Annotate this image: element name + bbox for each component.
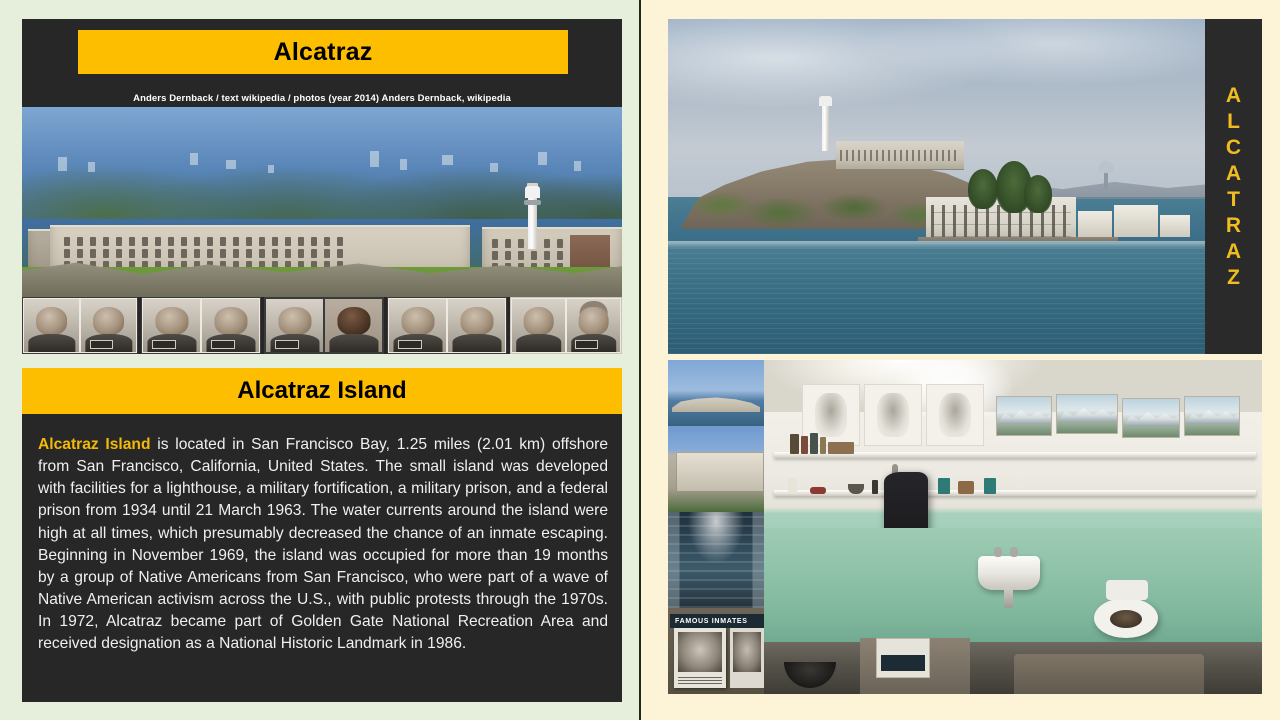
pencil-drawing — [926, 384, 984, 446]
vertical-letter: L — [1227, 111, 1240, 132]
thumbnail-sidebar: FAMOUS INMATES — [668, 360, 764, 694]
landscape-painting — [1184, 396, 1240, 436]
cell-sink — [978, 556, 1040, 590]
mugshot-strip — [22, 297, 622, 354]
landscape-painting — [1056, 394, 1118, 434]
vertical-letter: R — [1226, 215, 1241, 236]
title-card: Alcatraz Anders Dernback / text wikipedi… — [22, 19, 622, 354]
page-title: Alcatraz — [274, 38, 373, 67]
vertical-letter: Z — [1227, 267, 1240, 288]
landscape-painting — [1122, 398, 1180, 438]
mugshot-pair — [22, 297, 138, 354]
vertical-letter: A — [1226, 85, 1241, 106]
island-photo-block: A L C A T R A Z — [668, 19, 1262, 354]
mugshot-portrait — [448, 299, 505, 352]
cellhouse-building — [836, 141, 964, 169]
books-and-objects — [790, 432, 910, 454]
cell-bunk — [1014, 654, 1204, 694]
mugshot-portrait — [266, 299, 323, 352]
mugshot-pair — [510, 297, 622, 354]
cell-toilet — [1094, 598, 1158, 638]
vertical-letter: A — [1226, 163, 1241, 184]
inmate-poster-secondary — [730, 628, 764, 688]
lighthouse-icon — [528, 197, 537, 249]
tree — [968, 169, 998, 209]
bay-water — [668, 241, 1205, 354]
mugshot-portrait — [143, 299, 200, 352]
outbuilding — [1078, 211, 1112, 237]
vertical-letter: A — [1226, 241, 1241, 262]
alcatraz-island-photo — [668, 19, 1205, 354]
left-panel: Alcatraz Anders Dernback / text wikipedi… — [0, 0, 640, 720]
prison-cell-photo: FAMOUS INMATES — [668, 360, 1262, 694]
description-body: is located in San Francisco Bay, 1.25 mi… — [38, 436, 608, 652]
description-heading: Alcatraz Island — [237, 377, 406, 405]
mugshot-pair — [264, 297, 384, 354]
mugshot-portrait — [81, 299, 136, 352]
right-panel: A L C A T R A Z FAMOUS INMATES — [640, 0, 1280, 720]
mugshot-portrait — [24, 299, 79, 352]
mugshot-portrait — [325, 299, 382, 352]
mugshot-portrait — [567, 299, 620, 352]
floor-poster — [876, 638, 930, 678]
water-tower — [1098, 161, 1114, 173]
description-card: Alcatraz Island Alcatraz Island is locat… — [22, 368, 622, 702]
title-banner: Alcatraz — [78, 30, 568, 74]
cellhouse-windows — [64, 237, 343, 270]
sky — [668, 19, 1205, 197]
thumbnail-cellhouse-exterior — [668, 426, 764, 512]
presentation-slide: Alcatraz Anders Dernback / text wikipedi… — [0, 0, 1280, 720]
description-lead: Alcatraz Island — [38, 436, 150, 453]
thumbnail-famous-inmates-poster: FAMOUS INMATES — [668, 608, 764, 694]
mugshot-pair — [141, 297, 261, 354]
lighthouse-icon — [822, 105, 829, 151]
cell-interior — [764, 360, 1262, 694]
description-paragraph: Alcatraz Island is located in San Franci… — [38, 434, 608, 655]
outbuilding — [1114, 205, 1158, 237]
vertical-letter: T — [1227, 189, 1240, 210]
alcatraz-cellhouse-photo — [22, 107, 622, 297]
mugshot-portrait — [202, 299, 259, 352]
vertical-letter: C — [1226, 137, 1241, 158]
thumbnail-cellblock-corridor — [668, 512, 764, 608]
vertical-title-band: A L C A T R A Z — [1205, 19, 1262, 354]
landscape-painting — [996, 396, 1052, 436]
famous-inmates-label: FAMOUS INMATES — [675, 618, 748, 625]
outbuilding — [1160, 215, 1190, 237]
byline-credit: Anders Dernback / text wikipedia / photo… — [22, 93, 622, 104]
mugshot-pair — [387, 297, 507, 354]
description-banner: Alcatraz Island — [22, 368, 622, 414]
panel-divider — [639, 0, 641, 720]
famous-inmates-caption: FAMOUS INMATES — [670, 614, 764, 628]
mugshot-portrait — [512, 299, 565, 352]
thumbnail-island-from-water — [668, 360, 764, 426]
tree — [1024, 175, 1052, 213]
shelf-trinkets — [788, 472, 1088, 494]
inmate-poster-primary — [674, 628, 726, 688]
mugshot-portrait — [389, 299, 446, 352]
